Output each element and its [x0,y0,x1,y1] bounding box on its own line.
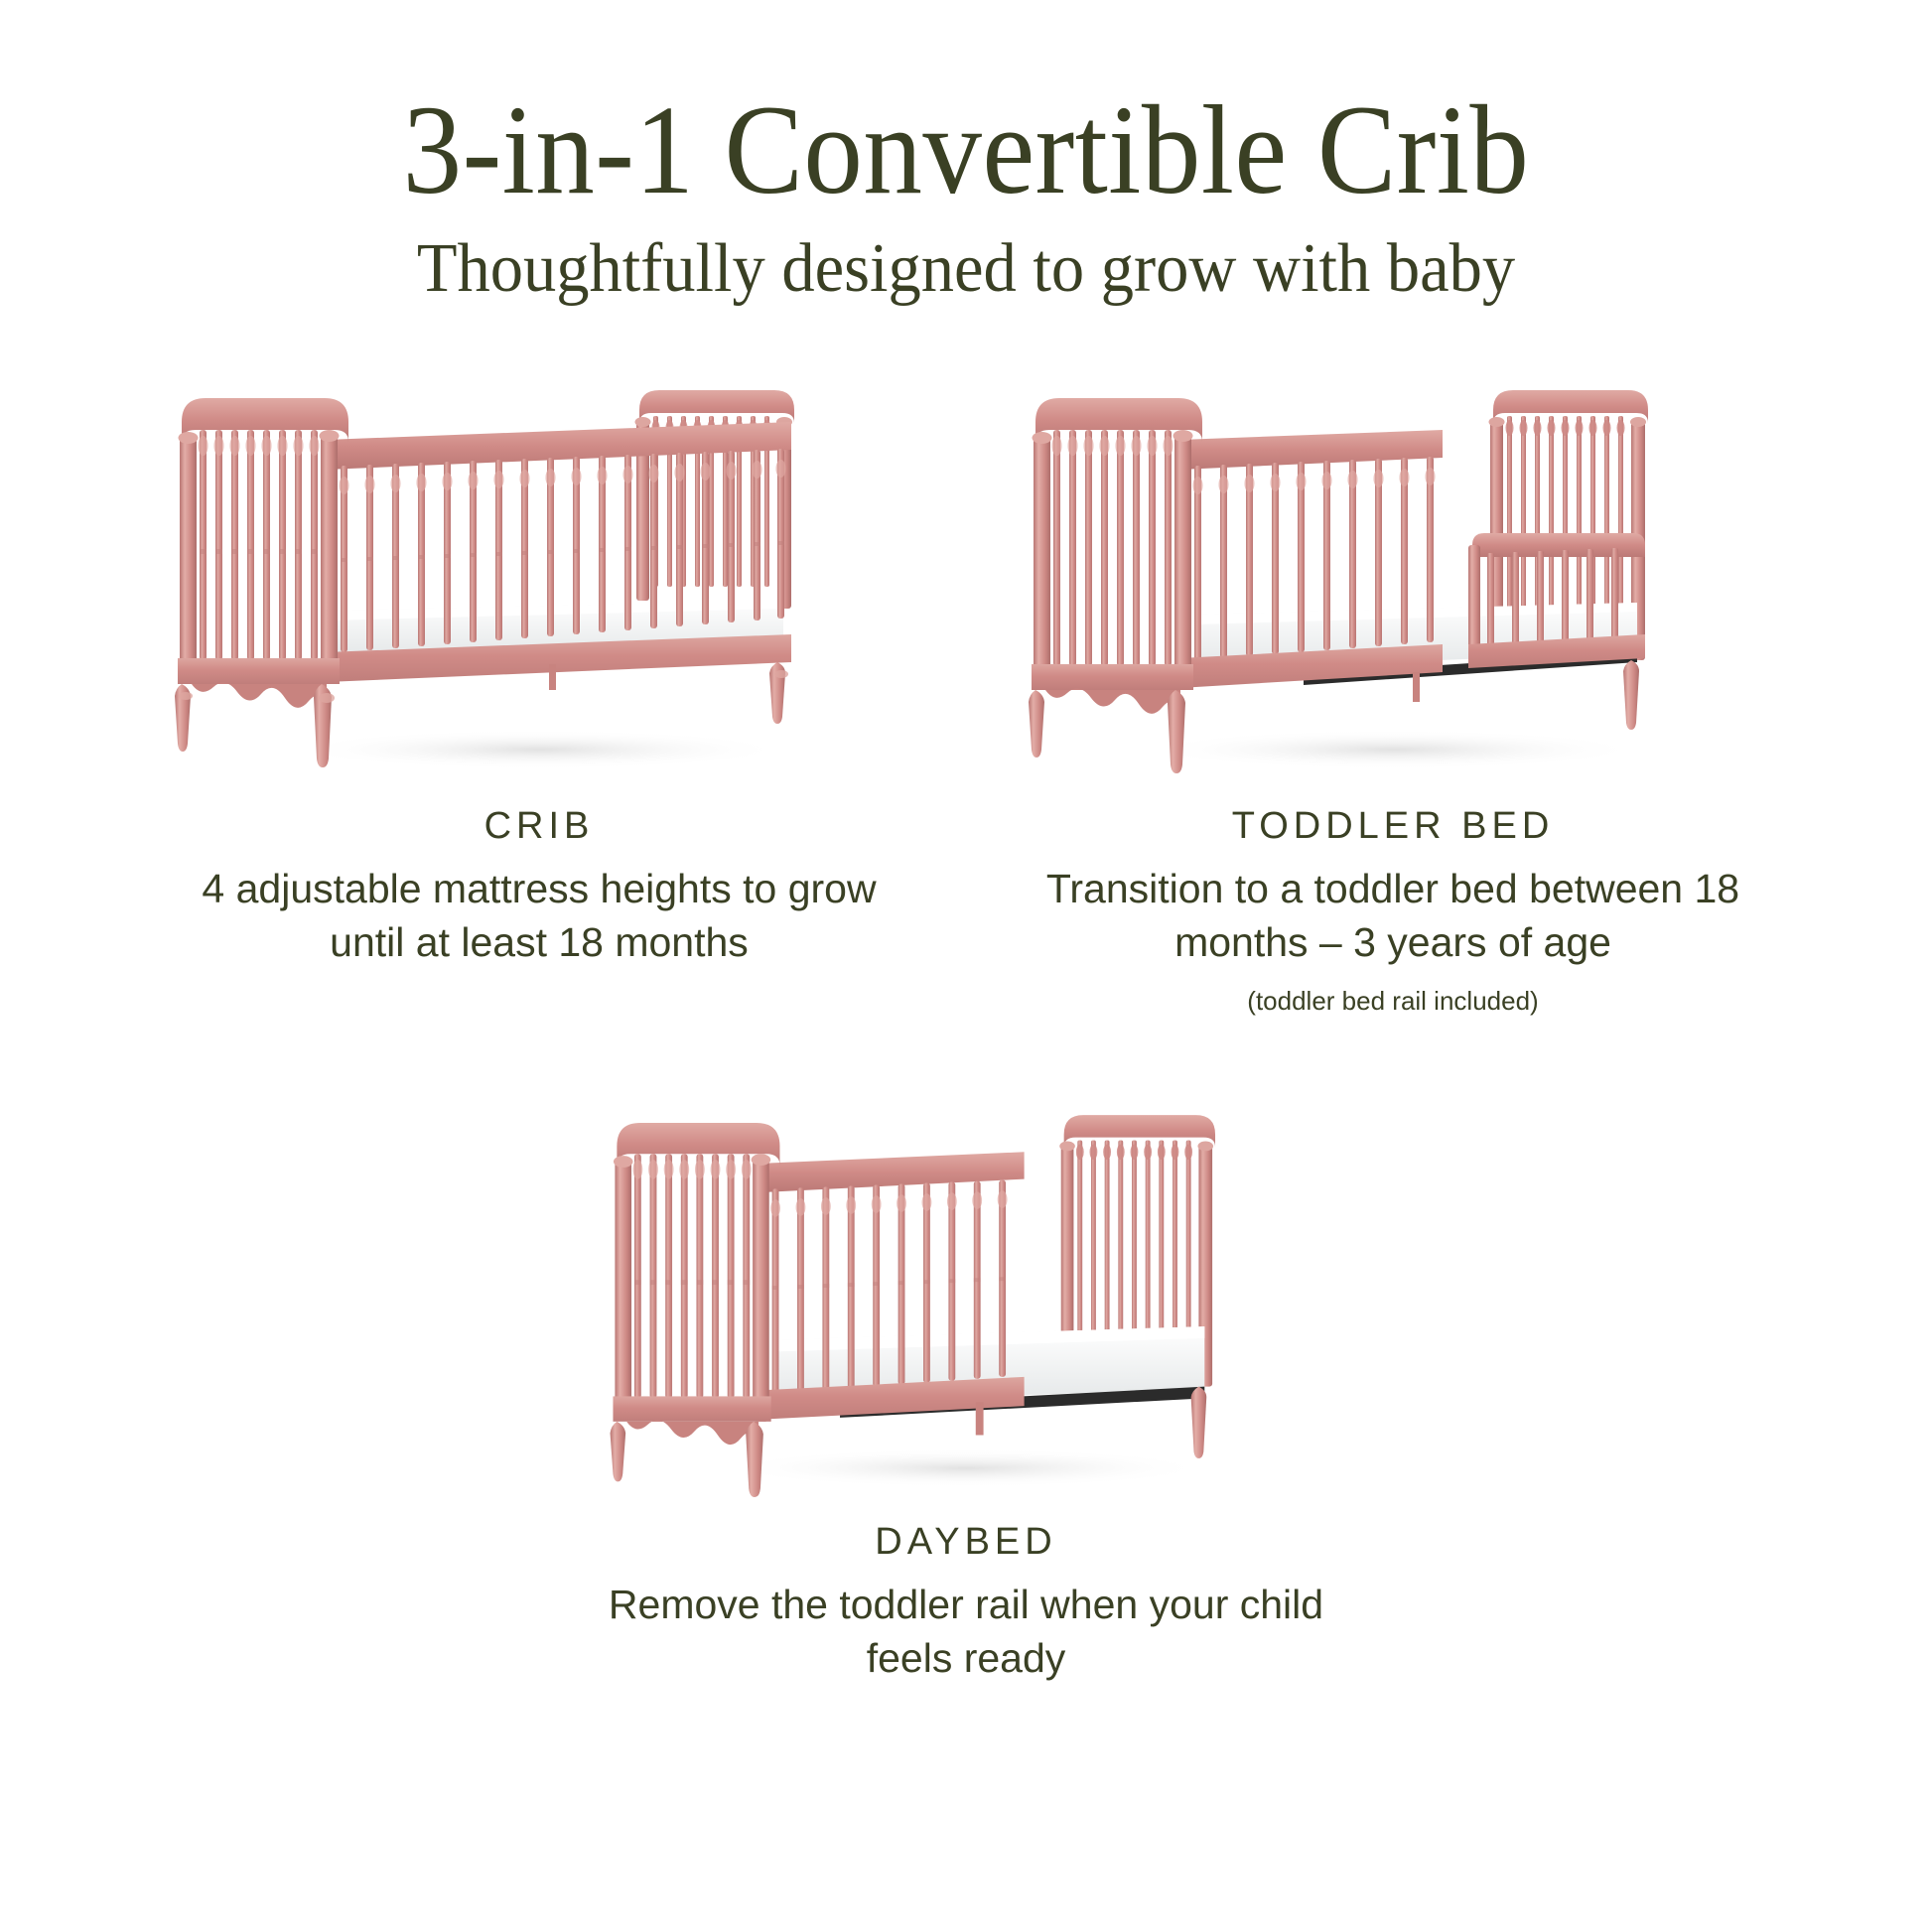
crib-illustration [152,354,926,781]
panel-desc-daybed: Remove the toddler rail when your child … [589,1578,1343,1685]
panel-desc-toddler-bed: Transition to a toddler bed between 18 m… [1016,862,1770,969]
toddler-far-finial-right [1630,417,1646,427]
near-head-finial-right [320,430,340,442]
toddler-rail-post [1468,545,1480,656]
daybed-far-bulbs [1076,1145,1192,1161]
far-head-arch [639,390,794,423]
panel-label-toddler-bed: TODDLER BED [1016,805,1770,848]
toddler-leg-center-back [1413,672,1420,702]
daybed-near-post-left [615,1160,631,1410]
daybed-near-headboard [613,1123,779,1445]
front-spindle-rings [341,541,784,562]
daybed-near-bulbs [632,1160,751,1179]
daybed-far-finial-left [1059,1142,1075,1152]
panel-toddler-bed: TODDLER BED Transition to a toddler bed … [966,354,1820,1019]
crib-body [175,390,794,767]
daybed-near-spindles [634,1154,750,1398]
toddler-far-arch [1493,390,1648,423]
toddler-near-post-right [1174,434,1191,690]
near-head-post-left [180,436,197,672]
page-title: 3-in-1 Convertible Crib [68,85,1864,215]
toddler-bed-illustration [1006,354,1780,781]
caption-crib: CRIB 4 adjustable mattress heights to gr… [162,805,916,969]
daybed-leg-near-left [611,1422,626,1482]
near-head-spindle-bulbs [199,436,320,456]
daybed-near-finial-right [752,1154,771,1166]
toddler-near-spindles [1053,430,1172,666]
daybed-front-top-rail [758,1152,1025,1192]
toddler-near-finial-left [1033,432,1052,444]
panel-note-toddler-bed: (toddler bed rail included) [1016,985,1770,1019]
toddler-near-finial-right [1173,430,1193,442]
daybed-floor-shadow [724,1449,1208,1487]
toddler-leg-near-left [1029,690,1044,758]
header: 3-in-1 Convertible Crib Thoughtfully des… [0,0,1932,309]
crib-near-headboard [178,398,348,708]
daybed-near-rings [634,1280,750,1285]
toddler-floor-shadow [1145,730,1641,769]
daybed-body [611,1115,1215,1497]
panel-desc-crib: 4 adjustable mattress heights to grow un… [162,862,916,969]
page-subtitle: Thoughtfully designed to grow with baby [49,229,1884,310]
toddler-bed-body [1029,390,1648,773]
daybed-near-bottom-rail [613,1396,770,1421]
toddler-near-scalloped-skirt [1045,689,1180,714]
panel-daybed: DAYBED Remove the toddler rail when your… [539,1080,1393,1685]
toddler-far-bulbs [1506,420,1625,436]
near-head-finial-left [179,432,199,444]
daybed-leg-center-back [976,1402,984,1435]
daybed-near-post-right [753,1158,769,1422]
near-head-scalloped-skirt [192,683,327,708]
daybed-near-finial-left [614,1156,633,1168]
near-head-post-right [321,434,338,684]
near-head-spindles [200,430,318,660]
panel-label-daybed: DAYBED [589,1521,1343,1564]
toddler-near-bottom-rail [1032,664,1193,690]
daybed-far-arch [1064,1115,1215,1147]
panel-crib: CRIB 4 adjustable mattress heights to gr… [112,354,966,969]
toddler-rail-top [1472,533,1645,557]
near-head-bottom-rail [178,658,340,684]
daybed-leg-near-right [746,1422,763,1497]
daybed-far-spindles [1077,1141,1190,1342]
daybed-leg-far-right [1191,1387,1207,1458]
daybed-illustration [579,1080,1353,1497]
toddler-far-finial-left [1489,417,1505,427]
leg-center-back [549,664,556,690]
floor-shadow [291,730,787,769]
daybed-far-finial-right [1197,1142,1213,1152]
daybed-far-post-left [1061,1145,1074,1344]
caption-daybed: DAYBED Remove the toddler rail when your… [589,1521,1343,1685]
daybed-front-rings [772,1277,1006,1290]
toddler-near-post-left [1034,436,1050,678]
toddler-near-headboard [1032,398,1202,714]
front-top-rail [326,422,791,470]
toddler-leg-far-right [1623,660,1639,730]
panels-row-bottom: DAYBED Remove the toddler rail when your… [0,1080,1932,1685]
toddler-near-bulbs [1052,436,1173,456]
daybed-near-scalloped-skirt [626,1420,759,1445]
daybed-front-turnings [770,1190,1007,1216]
panel-label-crib: CRIB [162,805,916,848]
toddler-front-turnings [1193,468,1436,494]
far-head-finial-left [635,417,651,427]
panels-row-top: CRIB 4 adjustable mattress heights to gr… [0,354,1932,1019]
toddler-leg-near-right [1168,690,1185,773]
caption-toddler-bed: TODDLER BED Transition to a toddler bed … [1016,805,1770,1019]
near-head-spindle-rings [200,549,318,554]
